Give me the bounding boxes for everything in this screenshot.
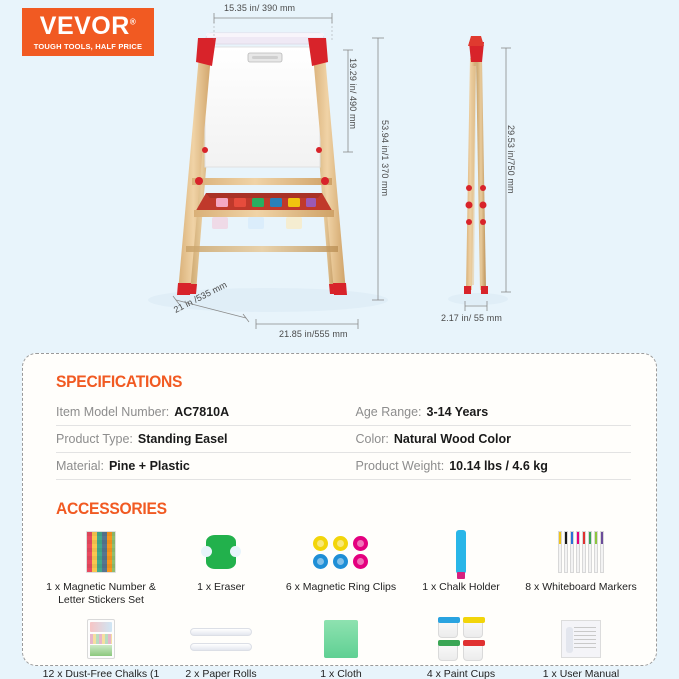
accessory-item: 8 x Whiteboard Markers [521, 526, 641, 607]
dimension-base-width: 21.85 in/555 mm [279, 329, 348, 339]
specifications-table: Item Model Number:AC7810A Age Range:3-14… [56, 399, 631, 480]
spec-label: Material: [56, 459, 104, 473]
accessory-label: 1 x Magnetic Number & Letter Stickers Se… [41, 581, 161, 607]
accessory-item: 12 x Dust-Free Chalks (1 Box) [41, 613, 161, 679]
accessory-label: 12 x Dust-Free Chalks (1 Box) [41, 668, 161, 679]
spec-product-type: Product Type:Standing Easel [56, 426, 344, 453]
table-row: Product Type:Standing Easel Color:Natura… [56, 426, 631, 453]
accessory-item: 2 x Paper Rolls [161, 613, 281, 679]
dimension-folded-height: 29.53 in/750 mm [506, 125, 516, 194]
accessories-title: ACCESSORIES [56, 499, 167, 519]
specifications-title: SPECIFICATIONS [56, 372, 182, 392]
accessory-label: 4 x Paint Cups [427, 668, 495, 679]
stickers-icon [86, 526, 116, 578]
accessory-item: 4 x Paint Cups [401, 613, 521, 679]
chalk-box-icon [87, 613, 115, 665]
cloth-icon [324, 613, 358, 665]
accessory-label: 6 x Magnetic Ring Clips [286, 581, 396, 594]
whiteboard-markers-icon [558, 526, 605, 578]
spec-label: Item Model Number: [56, 405, 169, 419]
accessories-title-wrap: ACCESSORIES [56, 499, 176, 519]
accessory-item: 1 x Eraser [161, 526, 281, 607]
user-manual-icon [561, 613, 601, 665]
spec-value: Pine + Plastic [109, 459, 190, 473]
product-illustration: 15.35 in/ 390 mm 19.29 in/ 490 mm 53.94 … [0, 0, 679, 350]
table-row: Item Model Number:AC7810A Age Range:3-14… [56, 399, 631, 426]
accessory-item: 1 x Magnetic Number & Letter Stickers Se… [41, 526, 161, 607]
easel-diagram [0, 0, 679, 350]
spec-label: Age Range: [356, 405, 422, 419]
spec-age-range: Age Range:3-14 Years [344, 399, 632, 426]
accessories-row: 12 x Dust-Free Chalks (1 Box) 2 x Paper … [41, 613, 641, 679]
accessory-label: 1 x User Manual [543, 668, 619, 679]
accessory-label: 1 x Chalk Holder [422, 581, 500, 594]
spec-label: Product Type: [56, 432, 133, 446]
dimension-folded-width: 2.17 in/ 55 mm [441, 313, 502, 323]
dimension-board-width: 15.35 in/ 390 mm [224, 3, 295, 13]
paint-cups-icon [438, 613, 485, 665]
spec-item-model-number: Item Model Number:AC7810A [56, 399, 344, 426]
dimension-overall-height: 53.94 in/1 370 mm [380, 120, 390, 196]
spec-value: Natural Wood Color [394, 432, 511, 446]
accessory-item: 6 x Magnetic Ring Clips [281, 526, 401, 607]
paper-rolls-icon [190, 613, 252, 665]
spec-value: 10.14 lbs / 4.6 kg [449, 459, 548, 473]
accessory-label: 1 x Eraser [197, 581, 245, 594]
accessory-item: 1 x Cloth [281, 613, 401, 679]
accessory-label: 1 x Cloth [320, 668, 361, 679]
accessory-label: 8 x Whiteboard Markers [525, 581, 636, 594]
accessory-item: 1 x Chalk Holder [401, 526, 521, 607]
accessory-label: 2 x Paper Rolls [185, 668, 256, 679]
product-spec-page: VEVOR® TOUGH TOOLS, HALF PRICE [0, 0, 679, 679]
accessories-grid: 1 x Magnetic Number & Letter Stickers Se… [41, 526, 641, 679]
spec-color: Color:Natural Wood Color [344, 426, 632, 453]
spec-value: AC7810A [174, 405, 229, 419]
spec-material: Material:Pine + Plastic [56, 453, 344, 480]
spec-label: Product Weight: [356, 459, 445, 473]
info-panel: SPECIFICATIONS Item Model Number:AC7810A… [22, 353, 657, 666]
eraser-icon [206, 526, 236, 578]
spec-value: 3-14 Years [427, 405, 489, 419]
spec-product-weight: Product Weight:10.14 lbs / 4.6 kg [344, 453, 632, 480]
dimension-board-height: 19.29 in/ 490 mm [348, 58, 358, 129]
spec-label: Color: [356, 432, 389, 446]
accessory-item: 1 x User Manual [521, 613, 641, 679]
table-row: Material:Pine + Plastic Product Weight:1… [56, 453, 631, 480]
magnetic-ring-clips-icon [313, 526, 370, 578]
chalk-holder-icon [456, 526, 466, 578]
accessories-row: 1 x Magnetic Number & Letter Stickers Se… [41, 526, 641, 607]
spec-value: Standing Easel [138, 432, 228, 446]
